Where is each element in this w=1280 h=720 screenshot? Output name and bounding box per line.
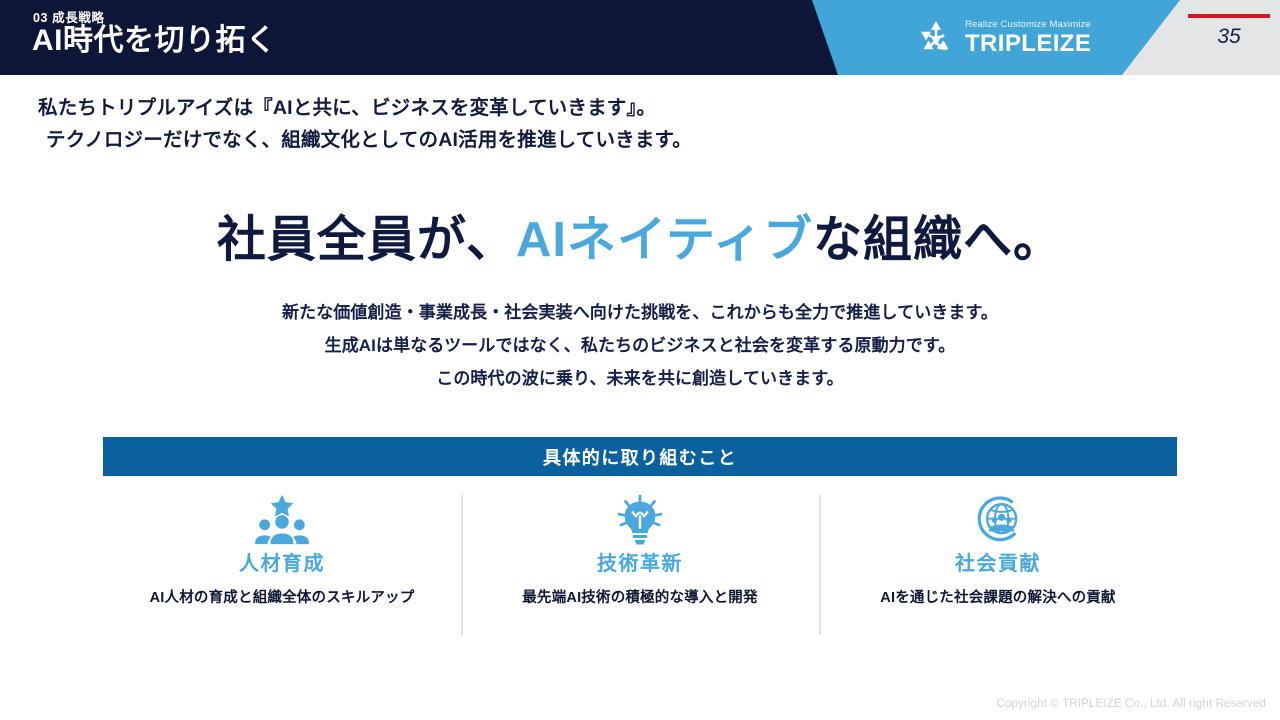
page-title: AI時代を切り拓く xyxy=(32,24,277,57)
intro-line-1: 私たちトリプルアイズは『AIと共に、ビジネスを変革していきます』。 xyxy=(38,92,1038,124)
tripleize-logo-icon xyxy=(916,18,956,58)
page-number-rule xyxy=(1188,14,1270,18)
initiative-columns: 人材育成 AI人材の育成と組織全体のスキルアップ xyxy=(103,492,1177,637)
subtext-line-1: 新たな価値創造・事業成長・社会実装へ向けた挑戦を、これからも全力で推進していきま… xyxy=(0,296,1280,329)
brand-name: TRIPLEIZE xyxy=(965,32,1091,56)
section-banner-label: 具体的に取り組むこと xyxy=(543,444,737,470)
initiative-column-3: 社会貢献 AIを通じた社会課題の解決への貢献 xyxy=(819,492,1177,637)
supporting-paragraph: 新たな価値創造・事業成長・社会実装へ向けた挑戦を、これからも全力で推進していきま… xyxy=(0,296,1280,395)
slide-root: 03 成長戦略 AI時代を切り拓く xyxy=(0,0,1280,720)
headline-part-2: な組織へ。 xyxy=(813,213,1063,267)
initiative-description-3: AIを通じた社会課題の解決への貢献 xyxy=(880,588,1115,608)
initiative-column-2: 技術革新 最先端AI技術の積極的な導入と開発 xyxy=(461,492,819,637)
section-banner: 具体的に取り組むこと xyxy=(103,437,1177,476)
slide-header: 03 成長戦略 AI時代を切り拓く xyxy=(0,0,1280,75)
headline-part-1: 社員全員が、 xyxy=(217,213,516,267)
initiative-column-1: 人材育成 AI人材の育成と組織全体のスキルアップ xyxy=(103,492,461,637)
initiative-description-1: AI人材の育成と組織全体のスキルアップ xyxy=(150,588,415,608)
headline-accent: AIネイティブ xyxy=(516,213,813,267)
page-number-block: 35 xyxy=(1188,14,1270,47)
initiative-title-1: 人材育成 xyxy=(239,554,325,574)
brand-tagline: Realize Customize Maximize xyxy=(965,20,1091,30)
initiative-title-2: 技術革新 xyxy=(597,554,683,574)
brand-logo: Realize Customize Maximize TRIPLEIZE xyxy=(916,18,1091,58)
initiative-title-3: 社会貢献 xyxy=(955,554,1041,574)
subtext-line-2: 生成AIは単なるツールではなく、私たちのビジネスと社会を変革する原動力です。 xyxy=(0,329,1280,362)
brand-logo-text: Realize Customize Maximize TRIPLEIZE xyxy=(965,20,1091,56)
main-headline: 社員全員が、AIネイティブな組織へ。 xyxy=(0,212,1280,268)
globe-people-icon xyxy=(969,492,1027,548)
subtext-line-3: この時代の波に乗り、未来を共に創造していきます。 xyxy=(0,362,1280,395)
people-star-icon xyxy=(251,492,313,548)
intro-paragraph: 私たちトリプルアイズは『AIと共に、ビジネスを変革していきます』。 テクノロジー… xyxy=(38,92,1038,156)
intro-line-2: テクノロジーだけでなく、組織文化としてのAI活用を推進していきます。 xyxy=(38,124,1038,156)
copyright-footer: Copyright © TRIPLEIZE Co., Ltd. All righ… xyxy=(996,698,1266,710)
lightbulb-icon xyxy=(611,492,669,548)
initiative-description-2: 最先端AI技術の積極的な導入と開発 xyxy=(522,588,757,608)
page-number: 35 xyxy=(1188,26,1270,47)
